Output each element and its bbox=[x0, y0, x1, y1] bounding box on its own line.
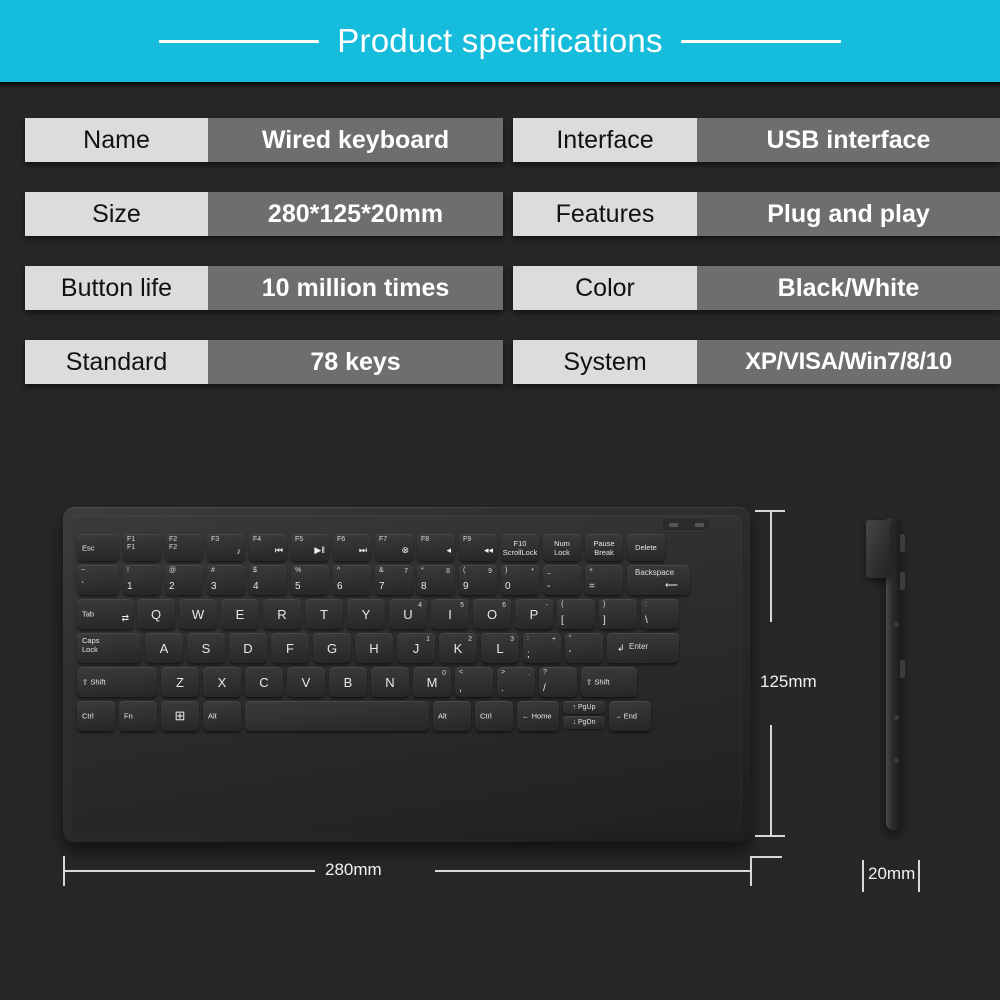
spec-column-right: Interface USB interface Features Plug an… bbox=[513, 118, 1000, 384]
keyboard-top-view: Esc F1F1 F2F2 F3♪ F4⏮ F5▶‖ F6⏭ F7⊗ F8◂ F… bbox=[63, 507, 750, 842]
key-1[interactable]: !1 bbox=[123, 565, 161, 595]
key-3[interactable]: #3 bbox=[207, 565, 245, 595]
key-m[interactable]: M0 bbox=[413, 667, 451, 697]
spec-row-standard: Standard 78 keys bbox=[25, 340, 503, 384]
spec-row-size: Size 280*125*20mm bbox=[25, 192, 503, 236]
key-arrow-down-pgdn[interactable]: ↓PgDn bbox=[563, 716, 605, 729]
dimension-line-height-upper bbox=[770, 512, 772, 622]
side-port-detail bbox=[900, 660, 905, 678]
spec-label: Size bbox=[25, 192, 208, 236]
key-tab[interactable]: Tab⇄ bbox=[77, 599, 133, 629]
key-9[interactable]: (99 bbox=[459, 565, 497, 595]
side-port-detail bbox=[900, 534, 905, 552]
dimension-line-thickness-right bbox=[918, 860, 920, 892]
key-l[interactable]: L3 bbox=[481, 633, 519, 663]
key-p[interactable]: P- bbox=[515, 599, 553, 629]
key-y[interactable]: Y bbox=[347, 599, 385, 629]
spec-row-button-life: Button life 10 million times bbox=[25, 266, 503, 310]
led-indicator bbox=[695, 523, 704, 527]
key-u[interactable]: U4 bbox=[389, 599, 427, 629]
key-k[interactable]: K2 bbox=[439, 633, 477, 663]
spec-value: Plug and play bbox=[697, 192, 1000, 236]
key-v[interactable]: V bbox=[287, 667, 325, 697]
spec-label: Features bbox=[513, 192, 697, 236]
enter-arrow-icon: ↲ bbox=[617, 643, 625, 654]
key-left-alt[interactable]: Alt bbox=[203, 701, 241, 731]
key-left-bracket[interactable]: {[ bbox=[557, 599, 595, 629]
side-dot-detail bbox=[894, 758, 899, 763]
key-enter[interactable]: ↲Enter bbox=[607, 633, 679, 663]
key-right-alt[interactable]: Alt bbox=[433, 701, 471, 731]
dimension-line-height-lower bbox=[770, 725, 772, 835]
key-f8[interactable]: F8◂ bbox=[417, 534, 455, 561]
key-z[interactable]: Z bbox=[161, 667, 199, 697]
spec-value: Black/White bbox=[697, 266, 1000, 310]
dimension-line-thickness-left bbox=[862, 860, 864, 892]
volume-down-icon: ◂ bbox=[446, 545, 451, 556]
spec-label: Standard bbox=[25, 340, 208, 384]
key-rows: Esc F1F1 F2F2 F3♪ F4⏮ F5▶‖ F6⏭ F7⊗ F8◂ F… bbox=[77, 534, 738, 735]
horizontal-rule-icon bbox=[159, 40, 319, 43]
key-5[interactable]: %5 bbox=[291, 565, 329, 595]
play-pause-icon: ▶‖ bbox=[314, 545, 325, 556]
backspace-arrow-icon: ⟵ bbox=[665, 580, 678, 591]
spec-label: Button life bbox=[25, 266, 208, 310]
key-f[interactable]: F bbox=[271, 633, 309, 663]
key-2[interactable]: @2 bbox=[165, 565, 203, 595]
key-t[interactable]: T bbox=[305, 599, 343, 629]
key-o[interactable]: O6 bbox=[473, 599, 511, 629]
keyboard-row-shift: ⇧ Shift Z X C V B N M0 <, >.. ?/ ⇧ Shift bbox=[77, 667, 738, 697]
volume-up-icon: ◂◂ bbox=[484, 545, 493, 556]
key-arrow-left-home[interactable]: ← Home bbox=[517, 701, 559, 731]
product-photo-area: Esc F1F1 F2F2 F3♪ F4⏮ F5▶‖ F6⏭ F7⊗ F8◂ F… bbox=[0, 400, 1000, 1000]
dimension-line-width-left bbox=[65, 870, 315, 872]
key-f7[interactable]: F7⊗ bbox=[375, 534, 413, 561]
key-pause-break[interactable]: PauseBreak bbox=[585, 534, 623, 561]
spec-value: XP/VISA/Win7/8/10 bbox=[697, 340, 1000, 384]
arrow-down-icon: ↓ bbox=[572, 719, 576, 726]
key-caps-lock[interactable]: CapsLock bbox=[77, 633, 141, 663]
next-track-icon: ⏭ bbox=[359, 545, 367, 556]
keyboard-row-function: Esc F1F1 F2F2 F3♪ F4⏮ F5▶‖ F6⏭ F7⊗ F8◂ F… bbox=[77, 534, 738, 561]
key-h[interactable]: H bbox=[355, 633, 393, 663]
key-4[interactable]: $4 bbox=[249, 565, 287, 595]
key-f4[interactable]: F4⏮ bbox=[249, 534, 287, 561]
key-period[interactable]: >.. bbox=[497, 667, 535, 697]
key-semicolon[interactable]: :;+ bbox=[523, 633, 561, 663]
page-title: Product specifications bbox=[337, 22, 662, 60]
key-num-lock[interactable]: NumLock bbox=[543, 534, 581, 561]
key-f1[interactable]: F1F1 bbox=[123, 534, 161, 561]
previous-track-icon: ⏮ bbox=[275, 545, 283, 556]
dimension-label-height: 125mm bbox=[760, 672, 817, 692]
music-note-icon: ♪ bbox=[237, 546, 242, 556]
spec-value: 10 million times bbox=[208, 266, 503, 310]
dimension-label-width: 280mm bbox=[325, 860, 382, 880]
spec-row-interface: Interface USB interface bbox=[513, 118, 1000, 162]
arrow-up-icon: ↑ bbox=[572, 704, 576, 711]
led-indicator bbox=[669, 523, 678, 527]
key-arrow-right-end[interactable]: → End bbox=[609, 701, 651, 731]
key-left-shift[interactable]: ⇧ Shift bbox=[77, 667, 157, 697]
key-q[interactable]: Q bbox=[137, 599, 175, 629]
key-f2[interactable]: F2F2 bbox=[165, 534, 203, 561]
key-minus[interactable]: _- bbox=[543, 565, 581, 595]
spec-column-left: Name Wired keyboard Size 280*125*20mm Bu… bbox=[25, 118, 503, 384]
key-x[interactable]: X bbox=[203, 667, 241, 697]
spec-value: 78 keys bbox=[208, 340, 503, 384]
key-r[interactable]: R bbox=[263, 599, 301, 629]
spec-row-name: Name Wired keyboard bbox=[25, 118, 503, 162]
mute-icon: ⊗ bbox=[401, 545, 409, 556]
key-grave[interactable]: ~` bbox=[77, 565, 119, 595]
key-right-ctrl[interactable]: Ctrl bbox=[475, 701, 513, 731]
key-7[interactable]: &77 bbox=[375, 565, 413, 595]
key-d[interactable]: D bbox=[229, 633, 267, 663]
dimension-line-width-right bbox=[435, 870, 750, 872]
side-dot-detail bbox=[894, 715, 899, 720]
spec-row-system: System XP/VISA/Win7/8/10 bbox=[513, 340, 1000, 384]
spec-row-color: Color Black/White bbox=[513, 266, 1000, 310]
spec-value: USB interface bbox=[697, 118, 1000, 162]
key-arrow-up-down-stack[interactable]: ↑PgUp ↓PgDn bbox=[563, 701, 605, 731]
side-dot-detail bbox=[894, 622, 899, 627]
key-8[interactable]: *88 bbox=[417, 565, 455, 595]
shift-arrow-icon: ⇧ Shift bbox=[586, 678, 609, 687]
key-f9[interactable]: F9◂◂ bbox=[459, 534, 497, 561]
horizontal-rule-icon bbox=[681, 40, 841, 43]
key-f10-scrolllock[interactable]: F10ScrollLock bbox=[501, 534, 539, 561]
spec-value: 280*125*20mm bbox=[208, 192, 503, 236]
spec-label: Color bbox=[513, 266, 697, 310]
keyboard-row-bottom: Ctrl Fn ⊞ Alt Alt Ctrl ← Home ↑PgUp ↓PgD… bbox=[77, 701, 738, 731]
spec-label: Name bbox=[25, 118, 208, 162]
key-right-shift[interactable]: ⇧ Shift bbox=[581, 667, 637, 697]
side-profile-top-cover bbox=[866, 520, 890, 578]
key-0[interactable]: )0* bbox=[501, 565, 539, 595]
spec-value: Wired keyboard bbox=[208, 118, 503, 162]
key-equal[interactable]: += bbox=[585, 565, 623, 595]
key-g[interactable]: G bbox=[313, 633, 351, 663]
side-port-detail bbox=[900, 572, 905, 590]
keyboard-row-home: CapsLock A S D F G H J1 K2 L3 :;+ "' ↲En… bbox=[77, 633, 738, 663]
key-backspace[interactable]: Backspace⟵ bbox=[627, 565, 690, 595]
specifications-table: Name Wired keyboard Size 280*125*20mm Bu… bbox=[0, 118, 1000, 400]
key-w[interactable]: W bbox=[179, 599, 217, 629]
key-b[interactable]: B bbox=[329, 667, 367, 697]
key-delete[interactable]: Delete bbox=[627, 534, 665, 561]
key-f6[interactable]: F6⏭ bbox=[333, 534, 371, 561]
windows-logo-icon: ⊞ bbox=[175, 708, 186, 724]
dimension-corner-tick bbox=[752, 856, 782, 858]
keyboard-row-number: ~` !1 @2 #3 $4 %5 ^6 &77 *88 (99 )0* _- … bbox=[77, 565, 738, 595]
key-left-ctrl[interactable]: Ctrl bbox=[77, 701, 115, 731]
tab-arrows-icon: ⇄ bbox=[121, 613, 129, 624]
key-f5[interactable]: F5▶‖ bbox=[291, 534, 329, 561]
key-right-bracket[interactable]: }] bbox=[599, 599, 637, 629]
spec-label: Interface bbox=[513, 118, 697, 162]
key-n[interactable]: N bbox=[371, 667, 409, 697]
key-windows[interactable]: ⊞ bbox=[161, 701, 199, 731]
key-arrow-up-pgup[interactable]: ↑PgUp bbox=[563, 701, 605, 714]
dimension-label-thickness: 20mm bbox=[868, 864, 915, 884]
keyboard-side-view bbox=[860, 510, 930, 835]
header-shadow bbox=[0, 82, 1000, 89]
spec-row-features: Features Plug and play bbox=[513, 192, 1000, 236]
arrow-left-icon: ← Home bbox=[522, 712, 552, 721]
key-spacebar[interactable] bbox=[245, 701, 429, 731]
key-e[interactable]: E bbox=[221, 599, 259, 629]
key-backslash[interactable]: :\ bbox=[641, 599, 679, 629]
key-comma[interactable]: <, bbox=[455, 667, 493, 697]
arrow-right-icon: → End bbox=[614, 712, 637, 721]
key-c[interactable]: C bbox=[245, 667, 283, 697]
key-quote[interactable]: "' bbox=[565, 633, 603, 663]
key-f3[interactable]: F3♪ bbox=[207, 534, 245, 561]
key-6[interactable]: ^6 bbox=[333, 565, 371, 595]
indicator-lights bbox=[660, 517, 712, 532]
key-j[interactable]: J1 bbox=[397, 633, 435, 663]
dimension-tick-right bbox=[750, 856, 752, 886]
key-s[interactable]: S bbox=[187, 633, 225, 663]
dimension-tick-bottom bbox=[755, 835, 785, 837]
spec-label: System bbox=[513, 340, 697, 384]
key-fn[interactable]: Fn bbox=[119, 701, 157, 731]
shift-arrow-icon: ⇧ Shift bbox=[82, 678, 105, 687]
key-esc[interactable]: Esc bbox=[77, 534, 119, 561]
key-slash[interactable]: ?/ bbox=[539, 667, 577, 697]
key-i[interactable]: I5 bbox=[431, 599, 469, 629]
key-a[interactable]: A bbox=[145, 633, 183, 663]
page-header: Product specifications bbox=[0, 0, 1000, 82]
keyboard-row-qwerty: Tab⇄ Q W E R T Y U4 I5 O6 P- {[ }] :\ bbox=[77, 599, 738, 629]
